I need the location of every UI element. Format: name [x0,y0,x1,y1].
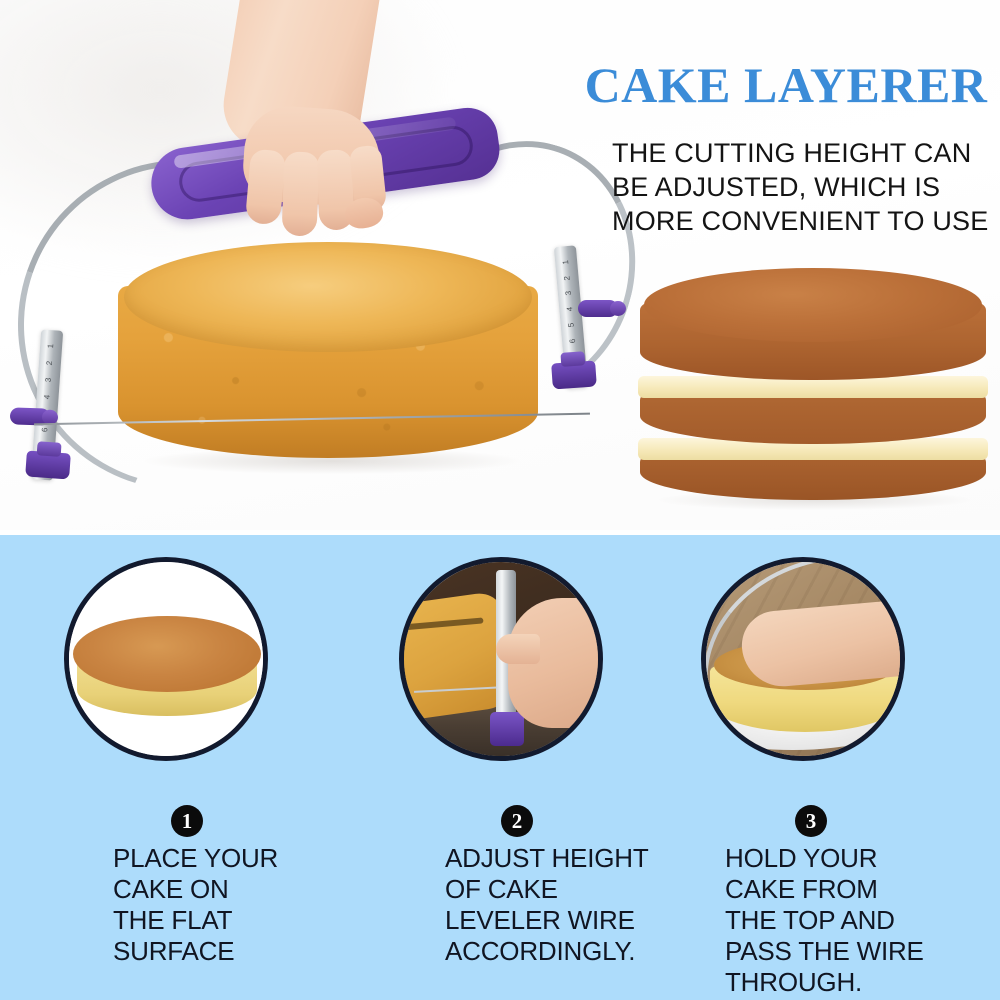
step-3-caption: HOLD YOUR CAKE FROM THE TOP AND PASS THE… [725,843,975,998]
step-2: 2 ADJUST HEIGHT OF CAKE LEVELER WIRE ACC… [333,535,666,1000]
scale-mark: 3 [564,285,573,302]
subtitle-line-1: THE CUTTING HEIGHT CAN [612,136,992,170]
step1-cake-top [73,616,261,692]
leveler-foot-right [551,360,597,389]
step-3: 3 HOLD YOUR CAKE FROM THE TOP AND PASS T… [667,535,1000,1000]
step-2-badge: 2 [501,805,533,837]
caption-line: PLACE YOUR [113,843,363,874]
step2-cut-line [399,617,484,631]
caption-line: CAKE FROM [725,874,975,905]
subtitle-line-3: MORE CONVENIENT TO USE [612,204,992,238]
subtitle-line-2: BE ADJUSTED, WHICH IS [612,170,992,204]
cake-layer-middle [640,392,986,444]
scale-mark: 3 [44,371,53,388]
step-1-caption: PLACE YOUR CAKE ON THE FLAT SURFACE [113,843,363,967]
cake-top-crust [124,242,532,352]
scale-mark: 2 [45,355,54,372]
caption-line: ACCORDINGLY. [445,936,695,967]
step2-thumb [496,634,540,664]
scale-mark: 1 [562,254,571,271]
scale-mark: 6 [568,332,577,349]
height-adjust-knob-right [578,300,618,317]
caption-line: SURFACE [113,936,363,967]
caption-line: THE TOP AND [725,905,975,936]
hero-sponge-cake [118,242,538,492]
caption-line: HOLD YOUR [725,843,975,874]
step-1-badge: 1 [171,805,203,837]
product-infographic: 1 2 3 4 5 6 7 8 1 2 3 4 5 6 7 8 [0,0,1000,1000]
scale-mark: 2 [563,270,572,287]
step-2-caption: ADJUST HEIGHT OF CAKE LEVELER WIRE ACCOR… [445,843,695,967]
step-2-photo [399,557,603,761]
caption-line: THE FLAT [113,905,363,936]
page-title: CAKE LAYERER [580,56,992,114]
step2-purple-foot [490,712,524,746]
caption-line: OF CAKE [445,874,695,905]
cake-layer-top-crust [644,268,982,342]
caption-line: THROUGH. [725,967,975,998]
caption-line: ADJUST HEIGHT [445,843,695,874]
steps-panel: 1 PLACE YOUR CAKE ON THE FLAT SURFACE [0,535,1000,1000]
scale-mark: 4 [43,388,52,405]
caption-line: LEVELER WIRE [445,905,695,936]
step-1-photo [64,557,268,761]
scale-mark: 4 [566,301,575,318]
step-3-badge: 3 [795,805,827,837]
hero-panel: 1 2 3 4 5 6 7 8 1 2 3 4 5 6 7 8 [0,0,1000,534]
caption-line: CAKE ON [113,874,363,905]
scale-mark: 5 [567,316,576,333]
leveler-foot-left [25,450,71,479]
finger-middle [282,151,320,236]
step-3-photo [701,557,905,761]
caption-line: PASS THE WIRE [725,936,975,967]
scale-mark: 1 [47,338,56,355]
step-1: 1 PLACE YOUR CAKE ON THE FLAT SURFACE [0,535,333,1000]
page-subtitle: THE CUTTING HEIGHT CAN BE ADJUSTED, WHIC… [612,136,992,238]
layered-cake [640,268,986,500]
